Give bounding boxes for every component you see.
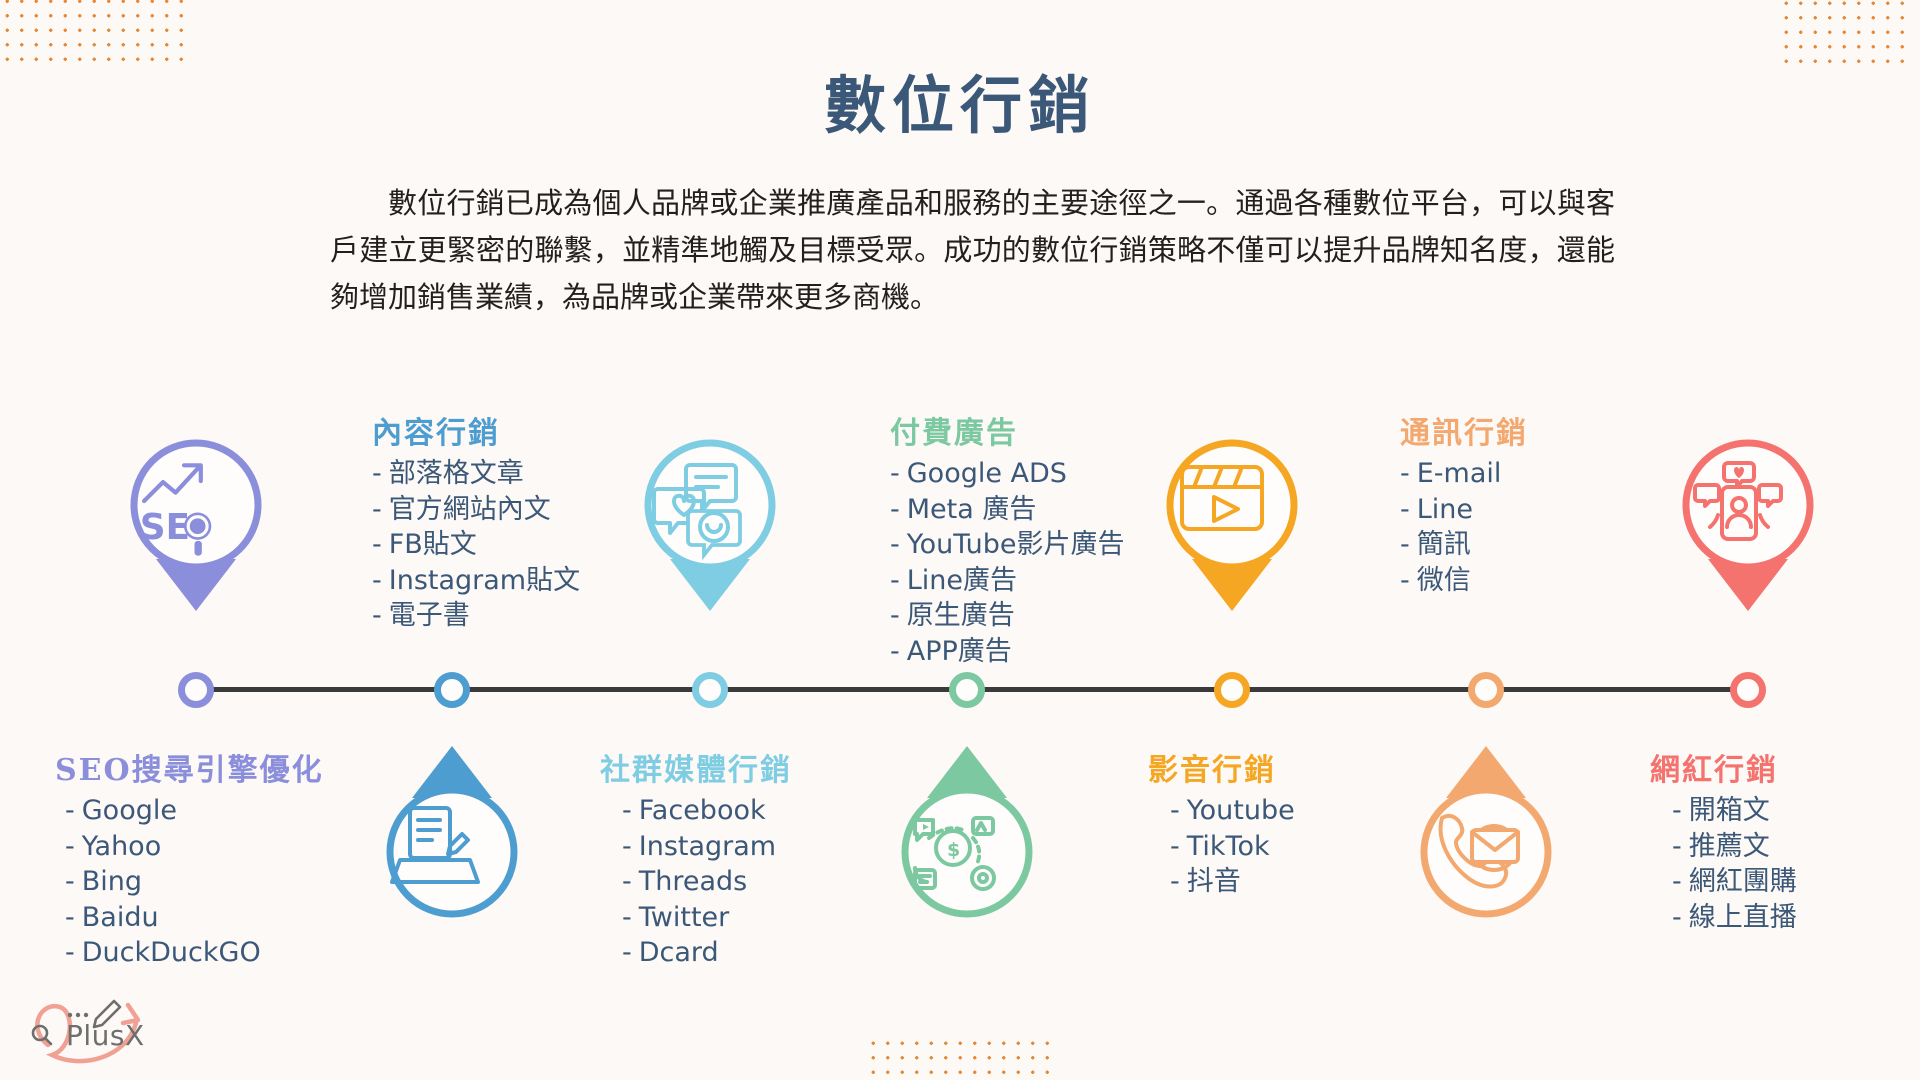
list-item-label: 微信	[1417, 565, 1471, 596]
list-item-label: 原生廣告	[907, 600, 1015, 631]
section-block-messaging: 通訊行銷-E-mail-Line-簡訊-微信	[1400, 408, 1528, 598]
list-item-label: Youtube	[1187, 795, 1295, 826]
list-item-label: Instagram貼文	[389, 565, 580, 596]
document-laptop-icon	[378, 742, 526, 920]
list-item: -Google ADS	[890, 456, 1125, 492]
bullet-dash: -	[1672, 831, 1682, 862]
bullet-dash: -	[372, 529, 382, 560]
list-item: -Meta 廣告	[890, 492, 1125, 528]
brand-logo: PlusX	[18, 983, 173, 1068]
bullet-dash: -	[1170, 831, 1180, 862]
list-item: -DuckDuckGO	[65, 935, 324, 971]
list-item: -Line	[1400, 492, 1528, 528]
chat-bubbles-icon	[636, 437, 784, 615]
pin-marker-messaging[interactable]: @	[1412, 742, 1560, 920]
section-list-influencer: -開箱文-推薦文-網紅團購-線上直播	[1650, 793, 1797, 935]
list-item-label: Google ADS	[907, 458, 1067, 489]
list-item-label: Baidu	[82, 902, 159, 933]
section-list-video: -Youtube-TikTok-抖音	[1148, 793, 1295, 900]
section-block-video: 影音行銷-Youtube-TikTok-抖音	[1148, 745, 1295, 900]
pin-marker-influencer[interactable]	[1674, 437, 1822, 615]
section-block-social: 社群媒體行銷-Facebook-Instagram-Threads-Twitte…	[600, 745, 792, 971]
list-item: -Baidu	[65, 900, 324, 936]
pin-marker-seo[interactable]: SE	[122, 437, 270, 615]
bullet-dash: -	[1400, 565, 1410, 596]
influencer-phone-icon	[1674, 437, 1822, 615]
list-item: -開箱文	[1672, 793, 1797, 829]
list-item: -簡訊	[1400, 527, 1528, 563]
bullet-dash: -	[65, 795, 75, 826]
list-item: -Threads	[622, 864, 792, 900]
list-item-label: 推薦文	[1689, 831, 1770, 862]
timeline-node-influencer[interactable]	[1730, 672, 1766, 708]
svg-text:SE: SE	[140, 507, 190, 548]
pin-marker-content[interactable]	[378, 742, 526, 920]
list-item-label: 抖音	[1187, 866, 1241, 897]
section-heading-influencer: 網紅行銷	[1650, 745, 1797, 789]
list-item: -Line廣告	[890, 563, 1125, 599]
section-block-paid-ads: 付費廣告-Google ADS-Meta 廣告-YouTube影片廣告-Line…	[890, 408, 1125, 669]
bullet-dash: -	[890, 458, 900, 489]
list-item-label: 部落格文章	[389, 458, 524, 489]
list-item: -Google	[65, 793, 324, 829]
list-item-label: 官方網站內文	[389, 494, 551, 525]
list-item-label: Threads	[639, 866, 747, 897]
timeline-node-paid-ads[interactable]	[949, 672, 985, 708]
bullet-dash: -	[1400, 458, 1410, 489]
section-list-messaging: -E-mail-Line-簡訊-微信	[1400, 456, 1528, 598]
bullet-dash: -	[65, 902, 75, 933]
section-heading-video: 影音行銷	[1148, 745, 1295, 789]
bullet-dash: -	[622, 831, 632, 862]
section-heading-seo: SEO搜尋引擎優化	[55, 745, 324, 789]
bullet-dash: -	[890, 494, 900, 525]
bullet-dash: -	[890, 529, 900, 560]
list-item-label: Line廣告	[907, 565, 1017, 596]
bullet-dash: -	[890, 565, 900, 596]
list-item-label: TikTok	[1187, 831, 1270, 862]
bullet-dash: -	[1170, 795, 1180, 826]
list-item: -Instagram貼文	[372, 563, 580, 599]
bullet-dash: -	[65, 866, 75, 897]
bullet-dash: -	[1400, 529, 1410, 560]
section-heading-messaging: 通訊行銷	[1400, 408, 1528, 452]
section-heading-content: 內容行銷	[372, 408, 580, 452]
list-item-label: Bing	[82, 866, 142, 897]
section-list-paid-ads: -Google ADS-Meta 廣告-YouTube影片廣告-Line廣告-原…	[890, 456, 1125, 669]
list-item: -微信	[1400, 563, 1528, 599]
list-item-label: Twitter	[639, 902, 730, 933]
bullet-dash: -	[890, 600, 900, 631]
list-item: -TikTok	[1170, 829, 1295, 865]
list-item: -Facebook	[622, 793, 792, 829]
list-item-label: Google	[82, 795, 177, 826]
list-item: -E-mail	[1400, 456, 1528, 492]
seo-growth-icon: SE	[122, 437, 270, 615]
pin-marker-social[interactable]	[636, 437, 784, 615]
bullet-dash: -	[1672, 866, 1682, 897]
list-item-label: 網紅團購	[1689, 866, 1797, 897]
list-item: -Youtube	[1170, 793, 1295, 829]
bullet-dash: -	[622, 866, 632, 897]
list-item-label: YouTube影片廣告	[907, 529, 1125, 560]
list-item: -抖音	[1170, 864, 1295, 900]
list-item: -推薦文	[1672, 829, 1797, 865]
timeline-node-content[interactable]	[434, 672, 470, 708]
timeline-node-video[interactable]	[1214, 672, 1250, 708]
list-item-label: DuckDuckGO	[82, 937, 261, 968]
list-item: -網紅團購	[1672, 864, 1797, 900]
list-item: -原生廣告	[890, 598, 1125, 634]
bullet-dash: -	[1672, 902, 1682, 933]
list-item: -線上直播	[1672, 900, 1797, 936]
pin-marker-paid-ads[interactable]: $	[893, 742, 1041, 920]
list-item-label: Dcard	[639, 937, 719, 968]
section-block-seo: SEO搜尋引擎優化-Google-Yahoo-Bing-Baidu-DuckDu…	[55, 745, 324, 971]
list-item: -官方網站內文	[372, 492, 580, 528]
video-play-icon	[1158, 437, 1306, 615]
timeline-node-seo[interactable]	[178, 672, 214, 708]
list-item: -Twitter	[622, 900, 792, 936]
list-item-label: Meta 廣告	[907, 494, 1037, 525]
bullet-dash: -	[372, 600, 382, 631]
list-item-label: Instagram	[639, 831, 776, 862]
bullet-dash: -	[1170, 866, 1180, 897]
section-list-social: -Facebook-Instagram-Threads-Twitter-Dcar…	[600, 793, 792, 971]
bullet-dash: -	[372, 458, 382, 489]
list-item-label: 電子書	[389, 600, 470, 631]
bullet-dash: -	[65, 831, 75, 862]
timeline-node-messaging[interactable]	[1468, 672, 1504, 708]
bullet-dash: -	[622, 902, 632, 933]
section-heading-paid-ads: 付費廣告	[890, 408, 1125, 452]
section-list-content: -部落格文章-官方網站內文-FB貼文-Instagram貼文-電子書	[372, 456, 580, 634]
bullet-dash: -	[372, 565, 382, 596]
ads-network-icon: $	[893, 742, 1041, 920]
bullet-dash: -	[1400, 494, 1410, 525]
list-item-label: 簡訊	[1417, 529, 1471, 560]
bullet-dash: -	[372, 494, 382, 525]
pin-marker-video[interactable]	[1158, 437, 1306, 615]
section-list-seo: -Google-Yahoo-Bing-Baidu-DuckDuckGO	[55, 793, 324, 971]
list-item-label: Line	[1417, 494, 1473, 525]
list-item-label: E-mail	[1417, 458, 1502, 489]
list-item-label: Facebook	[639, 795, 766, 826]
list-item: -Instagram	[622, 829, 792, 865]
bullet-dash: -	[65, 937, 75, 968]
bullet-dash: -	[622, 937, 632, 968]
list-item: -YouTube影片廣告	[890, 527, 1125, 563]
list-item: -Yahoo	[65, 829, 324, 865]
list-item: -FB貼文	[372, 527, 580, 563]
list-item-label: 線上直播	[1689, 902, 1797, 933]
list-item: -APP廣告	[890, 634, 1125, 670]
list-item: -Bing	[65, 864, 324, 900]
list-item: -部落格文章	[372, 456, 580, 492]
bullet-dash: -	[890, 636, 900, 667]
list-item-label: Yahoo	[82, 831, 161, 862]
list-item: -電子書	[372, 598, 580, 634]
brand-logo-text: PlusX	[66, 1019, 145, 1052]
timeline-node-social[interactable]	[692, 672, 728, 708]
section-block-influencer: 網紅行銷-開箱文-推薦文-網紅團購-線上直播	[1650, 745, 1797, 935]
section-heading-social: 社群媒體行銷	[600, 745, 792, 789]
list-item: -Dcard	[622, 935, 792, 971]
list-item-label: 開箱文	[1689, 795, 1770, 826]
list-item-label: APP廣告	[907, 636, 1012, 667]
bullet-dash: -	[622, 795, 632, 826]
timeline: SE SEO搜尋引擎優化-Google-Yahoo-Bing-Baidu-Duc…	[0, 0, 1920, 1080]
section-block-content: 內容行銷-部落格文章-官方網站內文-FB貼文-Instagram貼文-電子書	[372, 408, 580, 634]
bullet-dash: -	[1672, 795, 1682, 826]
phone-email-icon: @	[1412, 742, 1560, 920]
svg-text:$: $	[947, 839, 960, 861]
list-item-label: FB貼文	[389, 529, 477, 560]
